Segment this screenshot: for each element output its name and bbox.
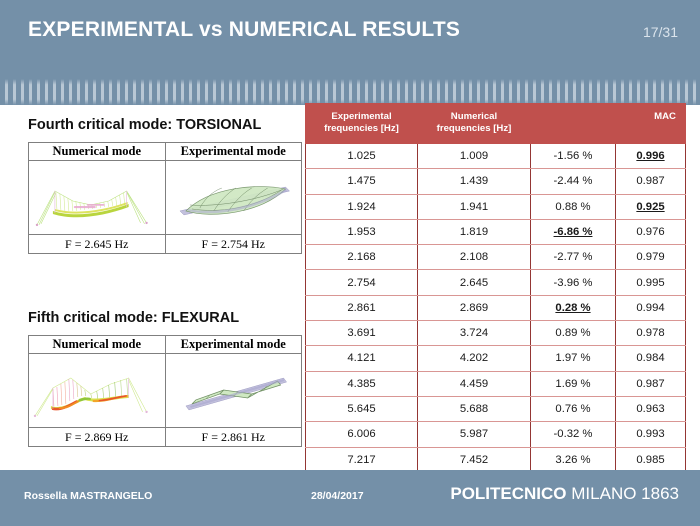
cell-numerical-frequency: 5.987 (418, 422, 531, 447)
cell-mac: 0.978 (616, 321, 686, 346)
cell-numerical-frequency: 2.108 (418, 245, 531, 270)
footer-date: 28/04/2017 (311, 490, 364, 502)
cell-numerical-frequency: 4.459 (418, 371, 531, 396)
footer-brand-light: MILANO 1863 (571, 484, 679, 503)
cell-experimental-frequency: 4.121 (306, 346, 418, 371)
table-row: 1.9241.9410.88 %0.925 (306, 194, 686, 219)
mode-col-experimental-header: Experimental mode (165, 143, 302, 161)
footer-brand: POLITECNICO MILANO 1863 (450, 484, 679, 504)
cell-mac: 0.987 (616, 371, 686, 396)
cell-difference-percent: -6.86 % (531, 219, 616, 244)
cell-mac-underlined: 0.996 (636, 150, 664, 162)
cell-numerical-frequency: 7.452 (418, 447, 531, 472)
mode-freq-numerical-flexural: F = 2.869 Hz (29, 428, 166, 447)
mode-freq-experimental-torsional: F = 2.754 Hz (165, 235, 302, 254)
cell-difference-percent-underlined: -6.86 % (554, 226, 593, 238)
cell-difference-percent: -2.44 % (531, 169, 616, 194)
page-indicator: 17/31 (643, 24, 678, 40)
slide-footer: Rossella MASTRANGELO 28/04/2017 POLITECN… (0, 470, 700, 526)
table-row: 1.9531.819-6.86 %0.976 (306, 219, 686, 244)
cell-difference-percent: 3.26 % (531, 447, 616, 472)
cell-experimental-frequency: 2.168 (306, 245, 418, 270)
cell-mac-underlined: 0.925 (636, 201, 664, 213)
cell-numerical-frequency: 1.009 (418, 143, 531, 168)
experimental-torsional-mode-shape-icon (166, 161, 302, 234)
footer-author: Rossella MASTRANGELO (24, 490, 152, 502)
cell-mac: 0.963 (616, 396, 686, 421)
column-header-numerical-frequencies: Numerical frequencies [Hz] (418, 104, 531, 144)
column-header-numerical-line1: Numerical (451, 111, 497, 122)
mode-title-fourth: Fourth critical mode: TORSIONAL (28, 117, 302, 133)
cell-experimental-frequency: 2.861 (306, 295, 418, 320)
cell-mac: 0.996 (616, 143, 686, 168)
mode-table-fourth: Numerical mode Experimental mode (28, 142, 302, 254)
cell-difference-percent: 0.88 % (531, 194, 616, 219)
table-row: 6.0065.987-0.32 %0.993 (306, 422, 686, 447)
numerical-torsional-mode-shape-icon (29, 161, 165, 234)
cell-mac: 0.925 (616, 194, 686, 219)
column-header-mac: MAC (616, 104, 686, 144)
cell-difference-percent: -2.77 % (531, 245, 616, 270)
results-table-header-row: Experimental frequencies [Hz] Numerical … (306, 104, 686, 144)
cell-numerical-frequency: 3.724 (418, 321, 531, 346)
cell-difference-percent: 0.28 % (531, 295, 616, 320)
cell-difference-percent-underlined: 0.28 % (555, 302, 590, 314)
mode-figure-numerical-torsional (29, 161, 166, 235)
cell-experimental-frequency: 4.385 (306, 371, 418, 396)
table-row: 5.6455.6880.76 %0.963 (306, 396, 686, 421)
table-row: 4.1214.2021.97 %0.984 (306, 346, 686, 371)
cell-mac: 0.976 (616, 219, 686, 244)
mode-block-fifth: Fifth critical mode: FLEXURAL Numerical … (28, 310, 302, 447)
cell-experimental-frequency: 1.953 (306, 219, 418, 244)
cell-numerical-frequency: 1.439 (418, 169, 531, 194)
table-row: 4.3854.4591.69 %0.987 (306, 371, 686, 396)
cell-mac: 0.985 (616, 447, 686, 472)
mode-figure-experimental-torsional (165, 161, 302, 235)
header-stripe-band (0, 79, 700, 105)
mode-freq-experimental-flexural: F = 2.861 Hz (165, 428, 302, 447)
cell-numerical-frequency: 4.202 (418, 346, 531, 371)
footer-brand-bold: POLITECNICO (450, 484, 566, 503)
mode-title-fifth: Fifth critical mode: FLEXURAL (28, 310, 302, 326)
table-row: 2.8612.8690.28 %0.994 (306, 295, 686, 320)
table-row: 2.1682.108-2.77 %0.979 (306, 245, 686, 270)
mode-col-experimental-header-fifth: Experimental mode (165, 336, 302, 354)
cell-mac: 0.994 (616, 295, 686, 320)
table-row: 1.0251.009-1.56 %0.996 (306, 143, 686, 168)
column-header-experimental-line2: frequencies [Hz] (324, 123, 399, 134)
column-header-experimental-line1: Experimental (331, 111, 391, 122)
cell-numerical-frequency: 2.645 (418, 270, 531, 295)
cell-experimental-frequency: 1.475 (306, 169, 418, 194)
page-title: EXPERIMENTAL vs NUMERICAL RESULTS (28, 18, 460, 42)
cell-experimental-frequency: 2.754 (306, 270, 418, 295)
cell-difference-percent: -3.96 % (531, 270, 616, 295)
mode-col-numerical-header: Numerical mode (29, 143, 166, 161)
mode-col-numerical-header-fifth: Numerical mode (29, 336, 166, 354)
cell-mac: 0.995 (616, 270, 686, 295)
results-table: Experimental frequencies [Hz] Numerical … (305, 103, 686, 473)
cell-mac: 0.993 (616, 422, 686, 447)
column-header-experimental-frequencies: Experimental frequencies [Hz] (306, 104, 418, 144)
numerical-flexural-mode-shape-icon (29, 354, 165, 427)
experimental-flexural-mode-shape-icon (166, 354, 302, 427)
table-row: 7.2177.4523.26 %0.985 (306, 447, 686, 472)
cell-experimental-frequency: 5.645 (306, 396, 418, 421)
table-row: 2.7542.645-3.96 %0.995 (306, 270, 686, 295)
cell-numerical-frequency: 2.869 (418, 295, 531, 320)
cell-experimental-frequency: 6.006 (306, 422, 418, 447)
cell-difference-percent: 1.69 % (531, 371, 616, 396)
cell-mac: 0.979 (616, 245, 686, 270)
cell-mac: 0.984 (616, 346, 686, 371)
cell-difference-percent: -0.32 % (531, 422, 616, 447)
cell-experimental-frequency: 1.025 (306, 143, 418, 168)
mode-block-fourth: Fourth critical mode: TORSIONAL Numerica… (28, 117, 302, 254)
cell-experimental-frequency: 7.217 (306, 447, 418, 472)
mode-figure-experimental-flexural (165, 354, 302, 428)
cell-difference-percent: 1.97 % (531, 346, 616, 371)
column-header-numerical-line2: frequencies [Hz] (437, 123, 512, 134)
column-header-difference (531, 104, 616, 144)
table-row: 3.6913.7240.89 %0.978 (306, 321, 686, 346)
table-row: 1.4751.439-2.44 %0.987 (306, 169, 686, 194)
cell-numerical-frequency: 5.688 (418, 396, 531, 421)
mode-table-fifth: Numerical mode Experimental mode (28, 335, 302, 447)
cell-difference-percent: 0.76 % (531, 396, 616, 421)
slide: EXPERIMENTAL vs NUMERICAL RESULTS 17/31 … (0, 0, 700, 526)
cell-experimental-frequency: 1.924 (306, 194, 418, 219)
mode-freq-numerical-torsional: F = 2.645 Hz (29, 235, 166, 254)
cell-mac: 0.987 (616, 169, 686, 194)
cell-difference-percent: -1.56 % (531, 143, 616, 168)
cell-experimental-frequency: 3.691 (306, 321, 418, 346)
cell-numerical-frequency: 1.941 (418, 194, 531, 219)
cell-numerical-frequency: 1.819 (418, 219, 531, 244)
mode-figure-numerical-flexural (29, 354, 166, 428)
cell-difference-percent: 0.89 % (531, 321, 616, 346)
slide-header: EXPERIMENTAL vs NUMERICAL RESULTS 17/31 (0, 0, 700, 79)
